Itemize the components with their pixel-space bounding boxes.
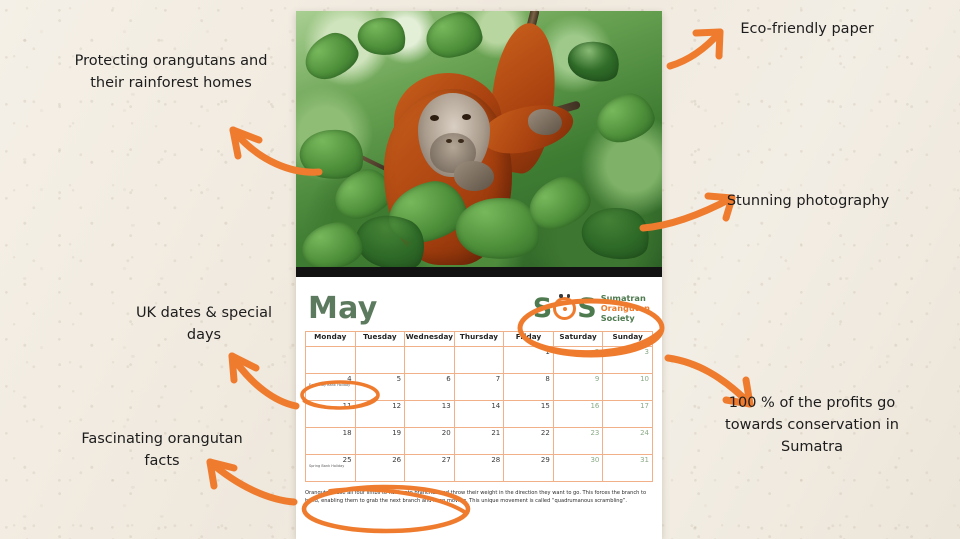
orangutan-nostril <box>458 139 464 143</box>
calendar-day-cell[interactable]: 7 <box>454 374 504 401</box>
day-number: 7 <box>458 376 501 383</box>
calendar-empty-cell <box>405 347 455 374</box>
calendar-day-cell[interactable]: 15 <box>504 401 554 428</box>
day-number: 26 <box>359 457 402 464</box>
orangutan-eye-left <box>430 115 439 121</box>
calendar-day-cell[interactable]: 8 <box>504 374 554 401</box>
annotation-stunning-photography: Stunning photography <box>722 190 894 212</box>
day-number: 10 <box>606 376 649 383</box>
calendar-product[interactable]: May S S Sumatran Orangutan Society <box>296 11 662 539</box>
day-number: 22 <box>507 430 550 437</box>
calendar-day-cell[interactable]: 26 <box>355 455 405 482</box>
arrow-to-uk-dates <box>222 348 302 412</box>
calendar-day-cell[interactable]: 19 <box>355 428 405 455</box>
day-number: 31 <box>606 457 649 464</box>
calendar-day-cell[interactable]: 29 <box>504 455 554 482</box>
calendar-day-cell[interactable]: 31 <box>603 455 653 482</box>
calendar-week-row: 18192021222324 <box>306 428 653 455</box>
month-title: May <box>308 294 378 324</box>
day-number: 15 <box>507 403 550 410</box>
calendar-day-cell[interactable]: 23 <box>553 428 603 455</box>
annotation-protecting-orangutans: Protecting orangutans and their rainfore… <box>66 50 276 94</box>
calendar-day-cell[interactable]: 18 <box>306 428 356 455</box>
calendar-week-row: 25Spring Bank Holiday262728293031 <box>306 455 653 482</box>
orangutan-hand-lower <box>454 161 494 191</box>
day-number: 9 <box>557 376 600 383</box>
calendar-day-cell[interactable]: 27 <box>405 455 455 482</box>
calendar-day-cell[interactable]: 13 <box>405 401 455 428</box>
day-number: 27 <box>408 457 451 464</box>
calendar-day-cell[interactable]: 20 <box>405 428 455 455</box>
calendar-empty-cell <box>306 347 356 374</box>
annotation-uk-dates: UK dates & special days <box>122 302 286 346</box>
day-number: 28 <box>458 457 501 464</box>
calendar-day-cell[interactable]: 14 <box>454 401 504 428</box>
day-number: 8 <box>507 376 550 383</box>
calendar-day-cell[interactable]: 10 <box>603 374 653 401</box>
day-number: 14 <box>458 403 501 410</box>
calendar-day-cell[interactable]: 24 <box>603 428 653 455</box>
highlight-circle-bank-holiday <box>298 378 382 412</box>
calendar-empty-cell <box>454 347 504 374</box>
day-number: 16 <box>557 403 600 410</box>
day-number: 19 <box>359 430 402 437</box>
calendar-day-cell[interactable]: 25Spring Bank Holiday <box>306 455 356 482</box>
weekday-header-monday: Monday <box>306 332 356 347</box>
day-number: 25 <box>309 457 352 464</box>
day-number: 21 <box>458 430 501 437</box>
calendar-day-cell[interactable]: 17 <box>603 401 653 428</box>
orangutan-hand-upper <box>528 109 562 135</box>
annotation-fascinating-facts: Fascinating orangutan facts <box>62 428 262 472</box>
orangutan-photo <box>296 11 662 277</box>
weekday-header-wednesday: Wednesday <box>405 332 455 347</box>
calendar-day-cell[interactable]: 21 <box>454 428 504 455</box>
weekday-header-thursday: Thursday <box>454 332 504 347</box>
day-number: 6 <box>408 376 451 383</box>
day-number: 13 <box>408 403 451 410</box>
day-number: 18 <box>309 430 352 437</box>
highlight-circle-sos-logo <box>516 297 666 359</box>
holiday-label: Spring Bank Holiday <box>309 465 352 469</box>
arrow-to-photo-left <box>215 100 325 180</box>
arrow-to-photo-top-right <box>668 22 730 72</box>
calendar-grid-body: 1234Early May Bank Holiday56789101112131… <box>306 347 653 482</box>
weekday-header-tuesday: Tuesday <box>355 332 405 347</box>
annotation-profits-conservation: 100 % of the profits go towards conserva… <box>712 392 912 458</box>
day-number: 17 <box>606 403 649 410</box>
calendar-day-cell[interactable]: 6 <box>405 374 455 401</box>
orangutan-nostril <box>446 139 452 143</box>
highlight-circle-fact <box>300 483 472 535</box>
day-number: 24 <box>606 430 649 437</box>
day-number: 30 <box>557 457 600 464</box>
calendar-day-cell[interactable]: 22 <box>504 428 554 455</box>
day-number: 29 <box>507 457 550 464</box>
photo-canvas <box>296 11 662 277</box>
calendar-day-cell[interactable]: 16 <box>553 401 603 428</box>
day-number: 20 <box>408 430 451 437</box>
calendar-day-cell[interactable]: 28 <box>454 455 504 482</box>
photo-bottom-band <box>296 267 662 277</box>
calendar-day-cell[interactable]: 9 <box>553 374 603 401</box>
calendar-empty-cell <box>355 347 405 374</box>
calendar-day-cell[interactable]: 30 <box>553 455 603 482</box>
orangutan-eye-right <box>462 114 471 120</box>
day-number: 23 <box>557 430 600 437</box>
annotation-eco-friendly-paper: Eco-friendly paper <box>722 18 892 40</box>
